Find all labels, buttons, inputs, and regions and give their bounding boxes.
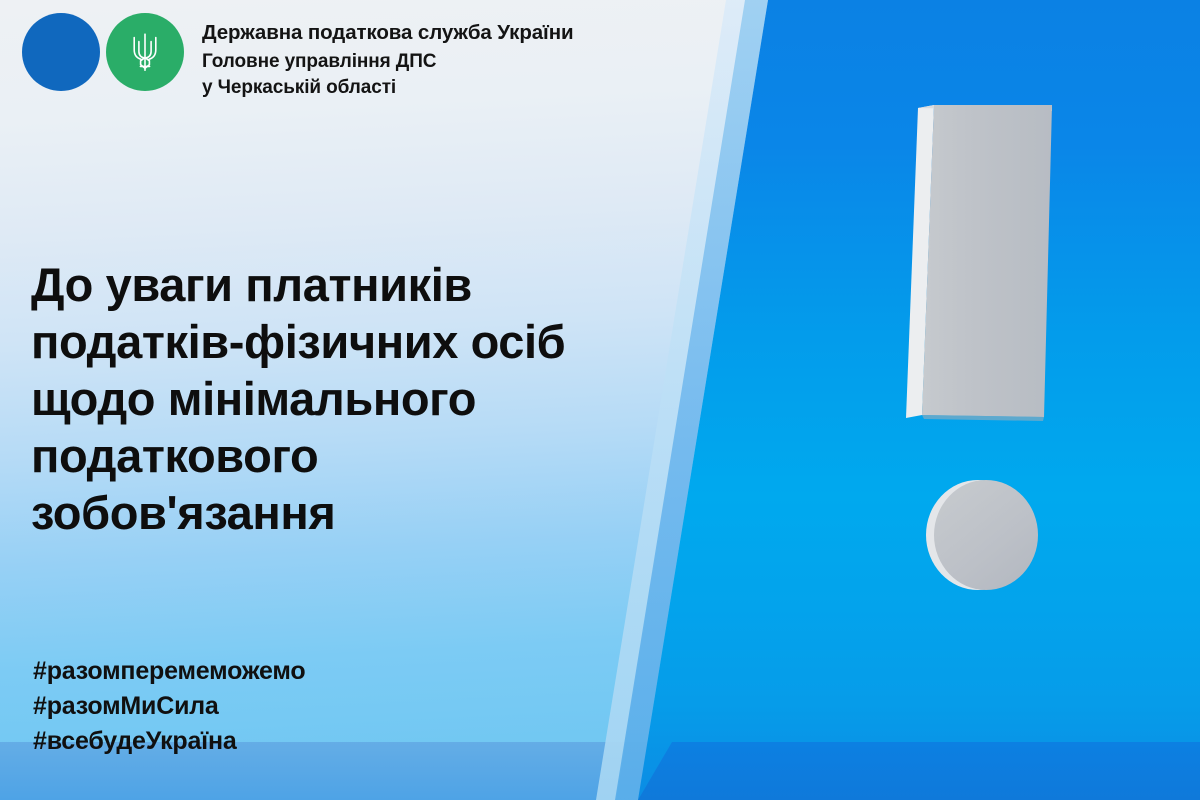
headline-line: зобов'язання: [31, 484, 641, 541]
hashtag-item: #разомперемеможемо: [33, 654, 305, 689]
agency-name-line-3: у Черкаській області: [202, 75, 574, 101]
hashtag-block: #разомперемеможемо #разомМиСила #всебуде…: [33, 654, 305, 759]
logo-green-circle-icon: [106, 13, 184, 91]
headline-line: податків-фізичних осіб: [31, 313, 641, 370]
hashtag-item: #разомМиСила: [33, 689, 305, 724]
headline-line: До уваги платників: [31, 256, 641, 313]
agency-name-block: Державна податкова служба України Головн…: [202, 13, 574, 101]
agency-name-line-2: Головне управління ДПС: [202, 49, 574, 75]
agency-logo: Державна податкова служба України Головн…: [22, 13, 574, 101]
headline-line: щодо мінімального: [31, 370, 641, 427]
headline: До уваги платників податків-фізичних осі…: [31, 256, 641, 541]
poster-canvas: Державна податкова служба України Головн…: [0, 0, 1200, 800]
headline-line: податкового: [31, 427, 641, 484]
logo-blue-circle-icon: [22, 13, 100, 91]
trident-icon: [128, 31, 162, 73]
exclamation-mark-icon: [880, 95, 1100, 605]
hashtag-item: #всебудеУкраїна: [33, 724, 305, 759]
agency-name-line-1: Державна податкова служба України: [202, 19, 574, 47]
